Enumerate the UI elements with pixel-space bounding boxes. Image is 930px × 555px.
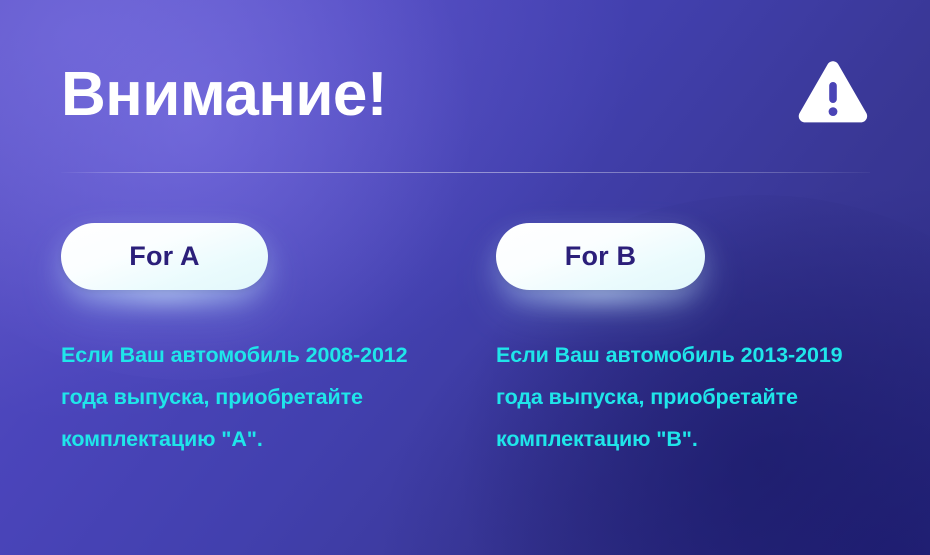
for-b-button[interactable]: For B [496,223,705,290]
pill-wrap-b: For B [496,223,896,290]
banner-header: Внимание! [61,52,870,138]
option-a-description: Если Ваш автомобиль 2008-2012 года выпус… [61,290,451,460]
option-column-a: For A Если Ваш автомобиль 2008-2012 года… [61,223,461,460]
option-column-b: For B Если Ваш автомобиль 2013-2019 года… [496,223,896,460]
pill-wrap-a: For A [61,223,461,290]
attention-banner: Внимание! For A Если Ваш автомобиль 2008… [0,0,930,555]
for-a-button[interactable]: For A [61,223,268,290]
option-b-description: Если Ваш автомобиль 2013-2019 года выпус… [496,290,886,460]
for-b-button-label: For B [565,243,637,270]
page-title: Внимание! [61,52,387,138]
header-divider [61,172,870,173]
for-a-button-label: For A [129,243,200,270]
warning-triangle-icon [796,59,870,127]
